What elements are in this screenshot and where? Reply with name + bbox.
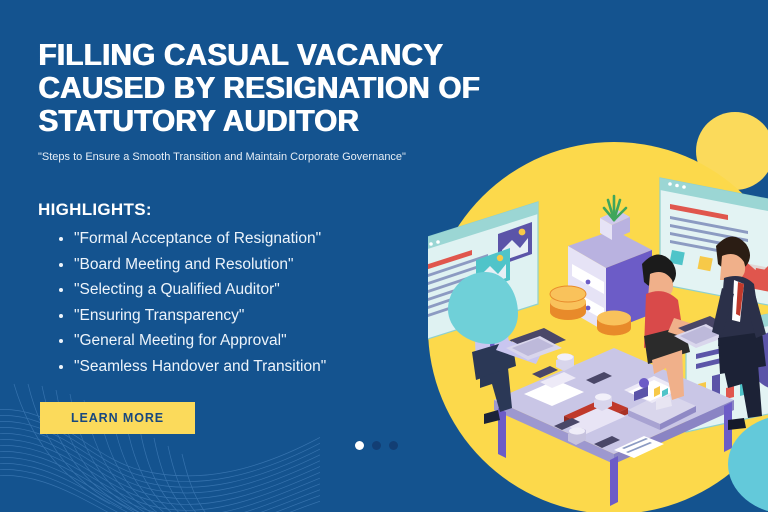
pagination-dot-1[interactable] xyxy=(355,441,364,450)
page-subtitle: "Steps to Ensure a Smooth Transition and… xyxy=(38,150,478,164)
page-title: FILLING CASUAL VACANCY CAUSED BY RESIGNA… xyxy=(38,38,537,137)
list-item: "General Meeting for Approval" xyxy=(74,328,326,354)
headline-line-2: CAUSED BY RESIGNATION OF xyxy=(38,71,537,104)
list-item: "Ensuring Transparency" xyxy=(74,303,326,329)
list-item: "Seamless Handover and Transition" xyxy=(74,354,326,380)
pagination-dot-3[interactable] xyxy=(389,441,398,450)
learn-more-button[interactable]: LEARN MORE xyxy=(40,402,195,434)
list-item: "Formal Acceptance of Resignation" xyxy=(74,226,326,252)
potted-plant xyxy=(600,196,630,240)
list-item: "Board Meeting and Resolution" xyxy=(74,252,326,278)
highlights-heading: HIGHLIGHTS: xyxy=(38,200,152,220)
illustration-isometric-office xyxy=(428,142,768,512)
text-column: FILLING CASUAL VACANCY CAUSED BY RESIGNA… xyxy=(0,0,470,512)
carousel-pagination[interactable] xyxy=(355,441,398,450)
highlights-list: "Formal Acceptance of Resignation" "Boar… xyxy=(50,226,326,379)
headline-line-3: STATUTORY AUDITOR xyxy=(38,104,537,137)
headline-line-1: FILLING CASUAL VACANCY xyxy=(38,38,537,71)
pagination-dot-2[interactable] xyxy=(372,441,381,450)
list-item: "Selecting a Qualified Auditor" xyxy=(74,277,326,303)
poster-canvas: FILLING CASUAL VACANCY CAUSED BY RESIGNA… xyxy=(0,0,768,512)
